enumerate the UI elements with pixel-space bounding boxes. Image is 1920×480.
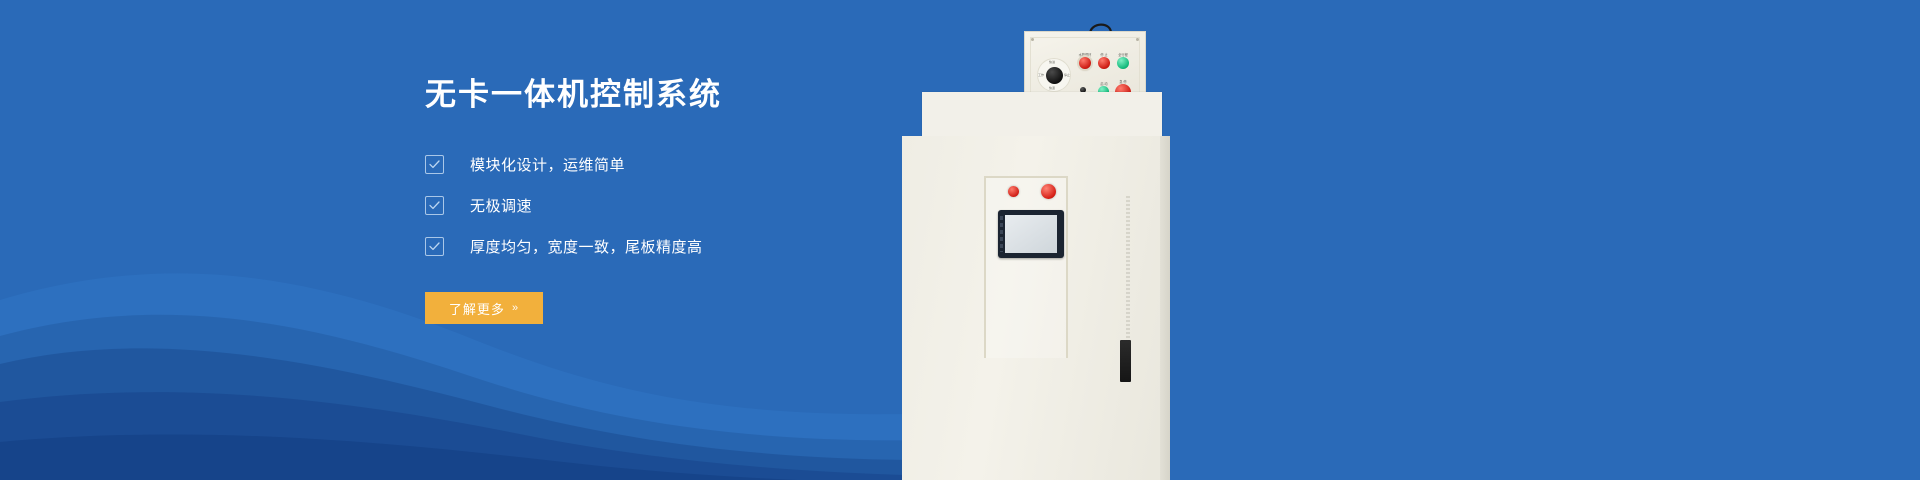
checkbox-checked-icon — [425, 196, 444, 215]
chevron-double-right-icon: » — [512, 302, 519, 314]
screw-icon — [1136, 38, 1139, 41]
hero-banner: 无卡一体机控制系统 模块化设计，运维简单 无极调速 — [0, 0, 1920, 480]
rotary-selector-knob[interactable]: 快进 工作 停止 快退 — [1037, 58, 1071, 92]
feature-list: 模块化设计，运维简单 无极调速 厚度均匀，宽度一致，尾板精度高 — [425, 154, 905, 257]
cabinet-vent — [1126, 196, 1130, 346]
cabinet-side-edge — [1160, 136, 1170, 480]
list-item: 厚度均匀，宽度一致，尾板精度高 — [425, 236, 905, 257]
hmi-side-keys[interactable] — [1000, 216, 1003, 252]
list-item: 模块化设计，运维简单 — [425, 154, 905, 175]
panel-button-3[interactable] — [1117, 57, 1129, 69]
panel-button-2[interactable] — [1098, 57, 1110, 69]
knob-handle[interactable] — [1046, 67, 1063, 84]
learn-more-label: 了解更多 — [449, 299, 505, 318]
touchscreen-display[interactable] — [998, 210, 1064, 258]
cabinet-top-shelf — [922, 92, 1162, 138]
cabinet-door-frame — [984, 176, 1068, 358]
indicator-lamp-small — [1008, 186, 1019, 197]
checkbox-checked-icon — [425, 155, 444, 174]
checkbox-checked-icon — [425, 237, 444, 256]
page-title: 无卡一体机控制系统 — [425, 78, 905, 112]
list-item: 无极调速 — [425, 195, 905, 216]
screw-icon — [1031, 38, 1034, 41]
feature-label: 无极调速 — [470, 195, 532, 216]
hmi-screen-surface[interactable] — [1005, 215, 1057, 253]
cabinet-handle-slot — [1120, 340, 1131, 382]
feature-label: 模块化设计，运维简单 — [470, 154, 625, 175]
learn-more-button[interactable]: 了解更多 » — [425, 292, 543, 324]
indicator-lamp-large — [1041, 184, 1056, 199]
control-cabinet-photo: 快进 工作 停止 快退 水箱循环 停 止 全行程 启 动 急 停 — [898, 0, 1378, 480]
feature-label: 厚度均匀，宽度一致，尾板精度高 — [470, 236, 703, 257]
panel-button-1[interactable] — [1079, 57, 1091, 69]
hero-content: 无卡一体机控制系统 模块化设计，运维简单 无极调速 — [425, 78, 905, 324]
